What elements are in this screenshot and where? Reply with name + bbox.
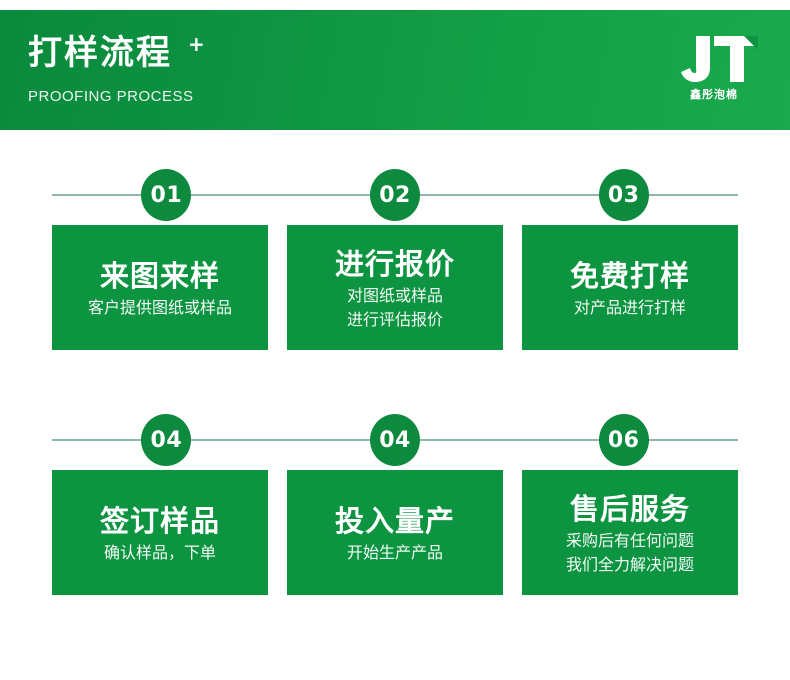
- marker-strip-2: 04 04 06: [52, 410, 738, 470]
- step-row-2: 04 04 06 签订样品 确认样品，下单 投入量产 开始生产产品 售后服务: [0, 410, 790, 595]
- page-subtitle: PROOFING PROCESS: [28, 88, 448, 105]
- step-cards-2: 签订样品 确认样品，下单 投入量产 开始生产产品 售后服务 采购后有任何问题 我…: [52, 470, 738, 595]
- header-banner: 打样流程 + PROOFING PROCESS 鑫彤泡棉: [0, 10, 790, 130]
- step-card-2[interactable]: 进行报价 对图纸或样品 进行评估报价: [287, 225, 503, 350]
- brand-name: 鑫彤泡棉: [666, 86, 762, 102]
- step-number-badge: 03: [599, 169, 649, 221]
- title-row: 打样流程 +: [28, 32, 448, 80]
- step-cards-1: 来图来样 客户提供图纸或样品 进行报价 对图纸或样品 进行评估报价 免费打样 对…: [52, 225, 738, 350]
- step-marker-01[interactable]: 01: [52, 165, 281, 225]
- step-number-badge: 04: [141, 414, 191, 466]
- step-marker-04[interactable]: 04: [52, 410, 281, 470]
- jt-monogram-icon: [666, 32, 762, 84]
- step-card-4[interactable]: 签订样品 确认样品，下单: [52, 470, 268, 595]
- step-card-subtitle: 确认样品，下单: [104, 542, 216, 564]
- step-number-badge: 01: [141, 169, 191, 221]
- step-card-5[interactable]: 投入量产 开始生产产品: [287, 470, 503, 595]
- step-marker-03[interactable]: 03: [509, 165, 738, 225]
- plus-icon: +: [188, 34, 205, 54]
- step-card-title: 进行报价: [335, 245, 455, 283]
- step-number-badge: 04: [370, 414, 420, 466]
- step-card-subtitle: 对产品进行打样: [574, 297, 686, 319]
- step-card-title: 售后服务: [570, 490, 690, 528]
- step-card-subtitle: 进行评估报价: [347, 309, 443, 331]
- step-card-3[interactable]: 免费打样 对产品进行打样: [522, 225, 738, 350]
- step-card-subtitle: 采购后有任何问题: [566, 530, 694, 552]
- step-number-badge: 02: [370, 169, 420, 221]
- step-marker-05[interactable]: 04: [281, 410, 510, 470]
- header-title-group: 打样流程 + PROOFING PROCESS: [28, 32, 448, 105]
- step-marker-02[interactable]: 02: [281, 165, 510, 225]
- step-card-subtitle: 对图纸或样品: [347, 285, 443, 307]
- step-row-1: 01 02 03 来图来样 客户提供图纸或样品 进行报价 对图纸或样品 进行评估…: [0, 165, 790, 350]
- marker-strip-1: 01 02 03: [52, 165, 738, 225]
- step-card-title: 免费打样: [570, 257, 690, 295]
- step-card-title: 签订样品: [100, 502, 220, 540]
- step-card-subtitle: 我们全力解决问题: [566, 554, 694, 576]
- brand-logo: 鑫彤泡棉: [666, 32, 762, 112]
- proofing-process-page: 打样流程 + PROOFING PROCESS 鑫彤泡棉 01 02: [0, 0, 790, 680]
- step-card-1[interactable]: 来图来样 客户提供图纸或样品: [52, 225, 268, 350]
- page-title: 打样流程: [28, 32, 172, 74]
- step-card-6[interactable]: 售后服务 采购后有任何问题 我们全力解决问题: [522, 470, 738, 595]
- step-number-badge: 06: [599, 414, 649, 466]
- step-card-title: 来图来样: [100, 257, 220, 295]
- step-card-subtitle: 客户提供图纸或样品: [88, 297, 232, 319]
- step-card-title: 投入量产: [335, 502, 455, 540]
- step-marker-06[interactable]: 06: [509, 410, 738, 470]
- step-card-subtitle: 开始生产产品: [347, 542, 443, 564]
